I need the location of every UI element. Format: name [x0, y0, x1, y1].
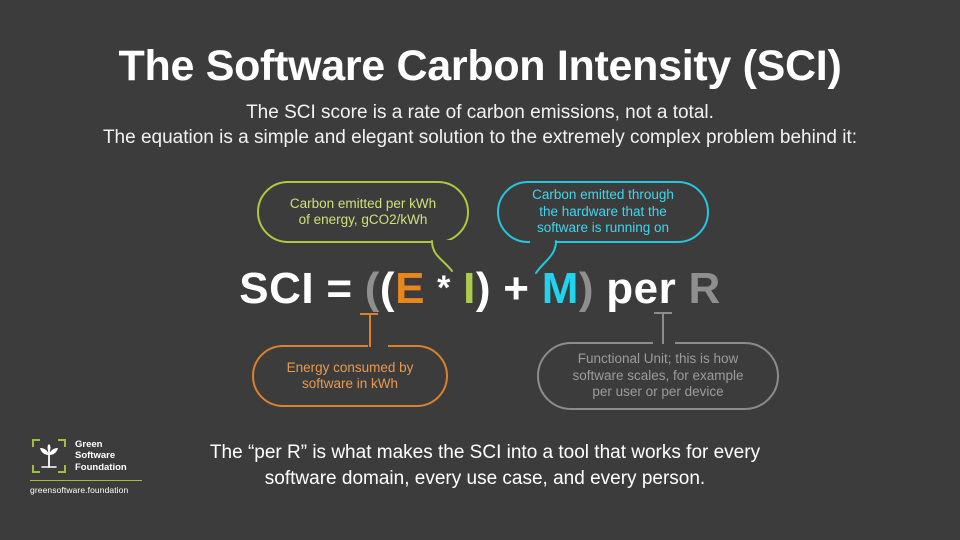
- callout-embodied-carbon-text: Carbon emitted through the hardware that…: [508, 187, 698, 236]
- equation-inner-paren-close: ): [476, 264, 491, 313]
- equation-outer-paren-close: ): [579, 264, 594, 313]
- callout-energy: Energy consumed by software in kWh: [252, 345, 448, 407]
- sci-equation: SCI = ((E * I) + M) per R: [0, 264, 960, 314]
- callout-m-line-2: the hardware that the: [520, 204, 686, 220]
- callout-r-notch: [653, 340, 675, 345]
- logo-name-line-1: Green: [75, 439, 127, 451]
- callout-m-line-3: software is running on: [520, 220, 686, 236]
- logo-row: Green Software Foundation: [30, 437, 160, 475]
- caption-line-2: software domain, every use case, and eve…: [150, 466, 820, 492]
- logo-name-line-3: Foundation: [75, 462, 127, 474]
- callout-functional-unit: Functional Unit; this is how software sc…: [537, 342, 779, 410]
- subtitle-line-2: The equation is a simple and elegant sol…: [0, 126, 960, 151]
- callout-r-line-1: Functional Unit; this is how: [560, 351, 755, 367]
- callout-energy-text: Energy consumed by software in kWh: [263, 360, 438, 393]
- callout-r-line-3: per user or per device: [560, 384, 755, 400]
- callout-e-line-1: Energy consumed by: [275, 360, 426, 376]
- equation-term-e: E: [395, 264, 425, 313]
- logo-divider: [30, 480, 142, 481]
- callout-e-line-2: software in kWh: [275, 376, 426, 392]
- callout-m-line-1: Carbon emitted through: [520, 187, 686, 203]
- callout-functional-unit-text: Functional Unit; this is how software sc…: [548, 351, 767, 400]
- equation-keyword-per: per: [606, 264, 676, 313]
- equation-term-sci: SCI: [239, 264, 314, 313]
- logo-name-line-2: Software: [75, 450, 127, 462]
- caption-line-1: The “per R” is what makes the SCI into a…: [150, 440, 820, 466]
- subtitle-line-1: The SCI score is a rate of carbon emissi…: [0, 101, 960, 126]
- equation-outer-paren-open: (: [365, 264, 380, 313]
- equation-inner-paren-open: (: [380, 264, 395, 313]
- equation-plus-sign: +: [503, 264, 529, 313]
- callout-i-line-1: Carbon emitted per kWh: [278, 196, 448, 212]
- callout-carbon-intensity-text: Carbon emitted per kWh of energy, gCO2/k…: [266, 196, 460, 229]
- green-software-foundation-logo: Green Software Foundation greensoftware.…: [30, 437, 160, 495]
- logo-wordmark: Green Software Foundation: [75, 439, 127, 474]
- slide-canvas: The Software Carbon Intensity (SCI) The …: [0, 0, 960, 540]
- callout-r-connector: [662, 312, 664, 344]
- page-title: The Software Carbon Intensity (SCI): [0, 44, 960, 89]
- sapling-icon: [30, 437, 68, 475]
- callout-carbon-intensity: Carbon emitted per kWh of energy, gCO2/k…: [257, 181, 469, 243]
- equation-multiply-sign: *: [437, 269, 451, 307]
- footer-caption: The “per R” is what makes the SCI into a…: [150, 440, 820, 491]
- callout-e-notch: [368, 343, 388, 348]
- callout-r-line-2: software scales, for example: [560, 368, 755, 384]
- callout-embodied-carbon: Carbon emitted through the hardware that…: [497, 181, 709, 243]
- callout-e-connector: [369, 313, 371, 347]
- equation-term-r: R: [688, 264, 720, 313]
- callout-i-line-2: of energy, gCO2/kWh: [278, 212, 448, 228]
- equation-equals-sign: =: [326, 264, 352, 313]
- equation-term-m: M: [542, 264, 579, 313]
- logo-url: greensoftware.foundation: [30, 485, 160, 495]
- equation-term-i: I: [463, 264, 476, 313]
